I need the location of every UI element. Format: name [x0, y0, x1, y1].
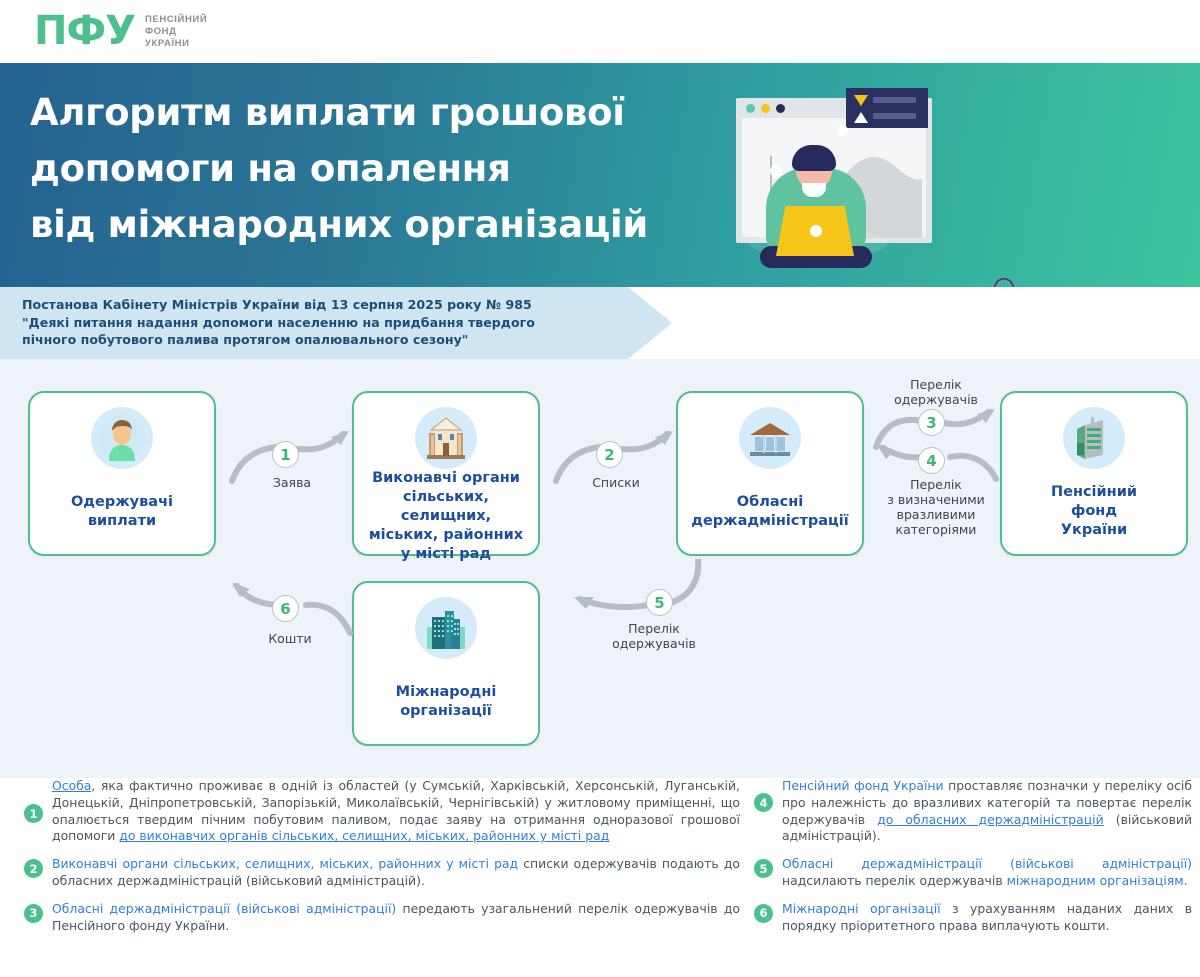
footnote-number: 4: [754, 793, 773, 812]
footnote-number: 1: [24, 804, 43, 823]
flow-node-oblast-label: Обласнідержадміністрації: [685, 493, 855, 531]
footnote-text: Виконавчі органи сільських, селищних, мі…: [52, 856, 740, 890]
government-building-icon: [415, 407, 477, 469]
footnotes-left-column: 1 Особа, яка фактично проживає в одній і…: [18, 778, 740, 945]
pfu-logo-mark: ПФУ: [34, 11, 135, 51]
resolution-text: Постанова Кабінету Міністрів України від…: [22, 296, 612, 349]
triangle-up-icon: [854, 112, 868, 123]
flow-arrow-5: 5 Перелікодержувачів: [552, 559, 702, 663]
flow-node-councils[interactable]: Виконавчі органисільських, селищних,місь…: [352, 391, 540, 556]
chart-point-1: [770, 165, 782, 177]
pfu-logo-text: Пенсійний фонд України: [145, 12, 207, 50]
flow-arrow-1: 1 Заява: [228, 431, 354, 511]
flow-arrow-6-number: 6: [272, 595, 299, 622]
footnote-number: 3: [24, 904, 43, 923]
flow-arrow-4: 4 Перелікз визначенимивразливимикатегорі…: [872, 445, 1000, 585]
barrier-free-logo: інформаційна безбар'єрність: [978, 275, 1178, 287]
footnote-item: 3 Обласні держадміністрації (військові а…: [18, 901, 740, 935]
footnotes: 1 Особа, яка фактично проживає в одній і…: [0, 778, 1200, 977]
footnote-text: Пенсійний фонд України проставляє познач…: [782, 778, 1192, 845]
footnote-item: 2 Виконавчі органи сільських, селищних, …: [18, 856, 740, 890]
laptop-screen-dot: [810, 225, 822, 237]
skyscraper-icon: [415, 597, 477, 659]
office-building-icon: [1063, 407, 1125, 469]
barrier-free-circles-icon: [978, 275, 1040, 287]
pfu-logo: ПФУ Пенсійний фонд України: [34, 11, 207, 51]
infographic-page: ПФУ Пенсійний фонд України Алгоритм випл…: [0, 0, 1200, 977]
panel-bar-1: [873, 97, 916, 103]
flow-arrow-2: 2 Списки: [552, 431, 678, 511]
flow-node-international-label: Міжнародніорганізації: [390, 683, 503, 721]
footnote-number: 5: [754, 859, 773, 878]
footnotes-right-column: 4 Пенсійний фонд України проставляє позн…: [748, 778, 1192, 945]
curved-arrow-icon: [552, 559, 702, 621]
hero-banner: Алгоритм виплати грошової допомоги на оп…: [0, 63, 1200, 287]
flow-arrow-2-number: 2: [596, 441, 623, 468]
title-line-3: від міжнародних організацій: [30, 197, 690, 253]
footnote-number: 2: [24, 859, 43, 878]
person-with-laptop-illustration: [718, 83, 968, 283]
flow-arrow-4-label: Перелікз визначенимивразливимикатегоріям…: [872, 477, 1000, 537]
flow-node-councils-label: Виконавчі органисільських, селищних,місь…: [354, 469, 538, 564]
footnote-text: Особа, яка фактично проживає в одній із …: [52, 778, 740, 845]
resolution-line-3: пічного побутового палива протягом опалю…: [22, 331, 612, 349]
browser-dot-green-icon: [746, 104, 755, 113]
flow-node-receivers[interactable]: Одержувачівиплати: [28, 391, 216, 556]
resolution-line-2: "Деякі питання надання допомоги населенн…: [22, 314, 612, 332]
footnote-item: 4 Пенсійний фонд України проставляє позн…: [748, 778, 1192, 845]
chart-point-3: [837, 125, 848, 136]
figure-hair: [792, 145, 836, 171]
flow-node-receivers-label: Одержувачівиплати: [65, 493, 179, 531]
process-flow-diagram: Одержувачівиплати Виконавчі органисільсь…: [0, 359, 1200, 778]
pfu-logo-line1: Пенсійний: [145, 14, 207, 26]
flow-node-pfu-label: ПенсійнийфондУкраїни: [1045, 483, 1143, 540]
flow-node-international[interactable]: Міжнародніорганізації: [352, 581, 540, 746]
flow-arrow-2-label: Списки: [570, 475, 662, 490]
resolution-band: Постанова Кабінету Міністрів України від…: [0, 287, 1200, 359]
flow-arrow-5-number: 5: [646, 589, 673, 616]
data-panel-icon: [846, 88, 928, 128]
browser-dot-navy-icon: [776, 104, 785, 113]
pfu-logo-line3: України: [145, 38, 207, 50]
footnote-text: Міжнародні організації з урахуванням над…: [782, 901, 1192, 935]
flow-arrow-3-label: Перелікодержувачів: [878, 377, 994, 407]
administration-building-icon: [739, 407, 801, 469]
footnote-text: Обласні держадміністрації (військові адм…: [782, 856, 1192, 890]
footnote-item: 5 Обласні держадміністрації (військові а…: [748, 856, 1192, 890]
browser-dot-yellow-icon: [761, 104, 770, 113]
triangle-down-icon: [854, 95, 868, 106]
flow-arrow-3-number: 3: [918, 409, 945, 436]
footnote-number: 6: [754, 904, 773, 923]
flow-arrow-1-label: Заява: [246, 475, 338, 490]
flow-arrow-1-number: 1: [272, 441, 299, 468]
footnote-text: Обласні держадміністрації (військові адм…: [52, 901, 740, 935]
title-line-2: допомоги на опалення: [30, 141, 690, 197]
person-avatar-icon: [91, 407, 153, 469]
flow-node-oblast[interactable]: Обласнідержадміністрації: [676, 391, 864, 556]
flow-node-pfu[interactable]: ПенсійнийфондУкраїни: [1000, 391, 1188, 556]
flow-arrow-6-label: Кошти: [242, 631, 338, 646]
footnote-item: 6 Міжнародні організації з урахуванням н…: [748, 901, 1192, 935]
flow-arrow-6: 6 Кошти: [228, 583, 354, 673]
pfu-logo-line2: фонд: [145, 26, 207, 38]
page-title: Алгоритм виплати грошової допомоги на оп…: [30, 85, 690, 253]
title-line-1: Алгоритм виплати грошової: [30, 85, 690, 141]
flow-arrow-5-label: Перелікодержувачів: [596, 621, 712, 651]
flow-arrow-4-number: 4: [918, 447, 945, 474]
footnote-item: 1 Особа, яка фактично проживає в одній і…: [18, 778, 740, 845]
logo-bar: ПФУ Пенсійний фонд України: [0, 0, 1200, 63]
resolution-line-1: Постанова Кабінету Міністрів України від…: [22, 296, 612, 314]
panel-bar-2: [873, 113, 916, 119]
